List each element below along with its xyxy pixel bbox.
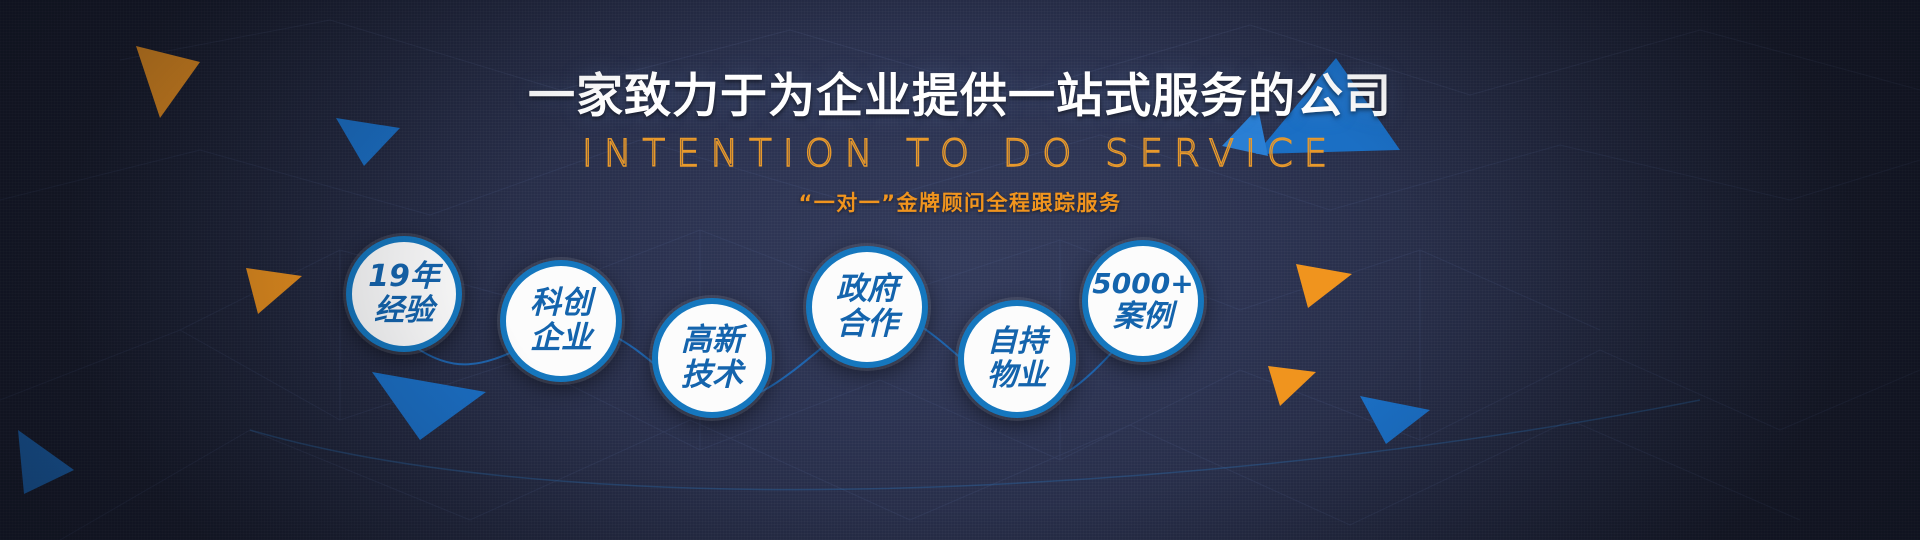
badge-innovation-enterprise[interactable]: 科创 企业 xyxy=(500,260,622,382)
badge-line2: 物业 xyxy=(987,361,1047,391)
badge-self-owned-property[interactable]: 自持 物业 xyxy=(958,300,1076,418)
badge-line1: 科创 xyxy=(530,288,592,319)
badge-line2: 经验 xyxy=(374,296,434,326)
badge-19-years[interactable]: 19年 经验 xyxy=(346,236,462,352)
badge-line2: 技术 xyxy=(681,360,743,391)
badge-line1: 高新 xyxy=(681,325,743,356)
badge-government-cooperation[interactable]: 政府 合作 xyxy=(806,246,928,368)
badge-row: 19年 经验 科创 企业 高新 技术 政府 合作 自持 物业 5000+ 案例 xyxy=(0,0,1920,540)
badge-line2: 案例 xyxy=(1113,302,1173,332)
promo-banner: 一家致力于为企业提供一站式服务的公司 INTENTION TO DO SERVI… xyxy=(0,0,1920,540)
badge-5000-cases[interactable]: 5000+ 案例 xyxy=(1082,240,1204,362)
badge-line1: 5000+ xyxy=(1092,270,1193,298)
badge-line1: 19年 xyxy=(368,262,440,292)
badge-high-tech[interactable]: 高新 技术 xyxy=(652,298,772,418)
badge-line2: 合作 xyxy=(836,309,898,340)
badge-line2: 企业 xyxy=(530,323,592,354)
badge-line1: 自持 xyxy=(987,327,1047,357)
badge-line1: 政府 xyxy=(836,274,898,305)
